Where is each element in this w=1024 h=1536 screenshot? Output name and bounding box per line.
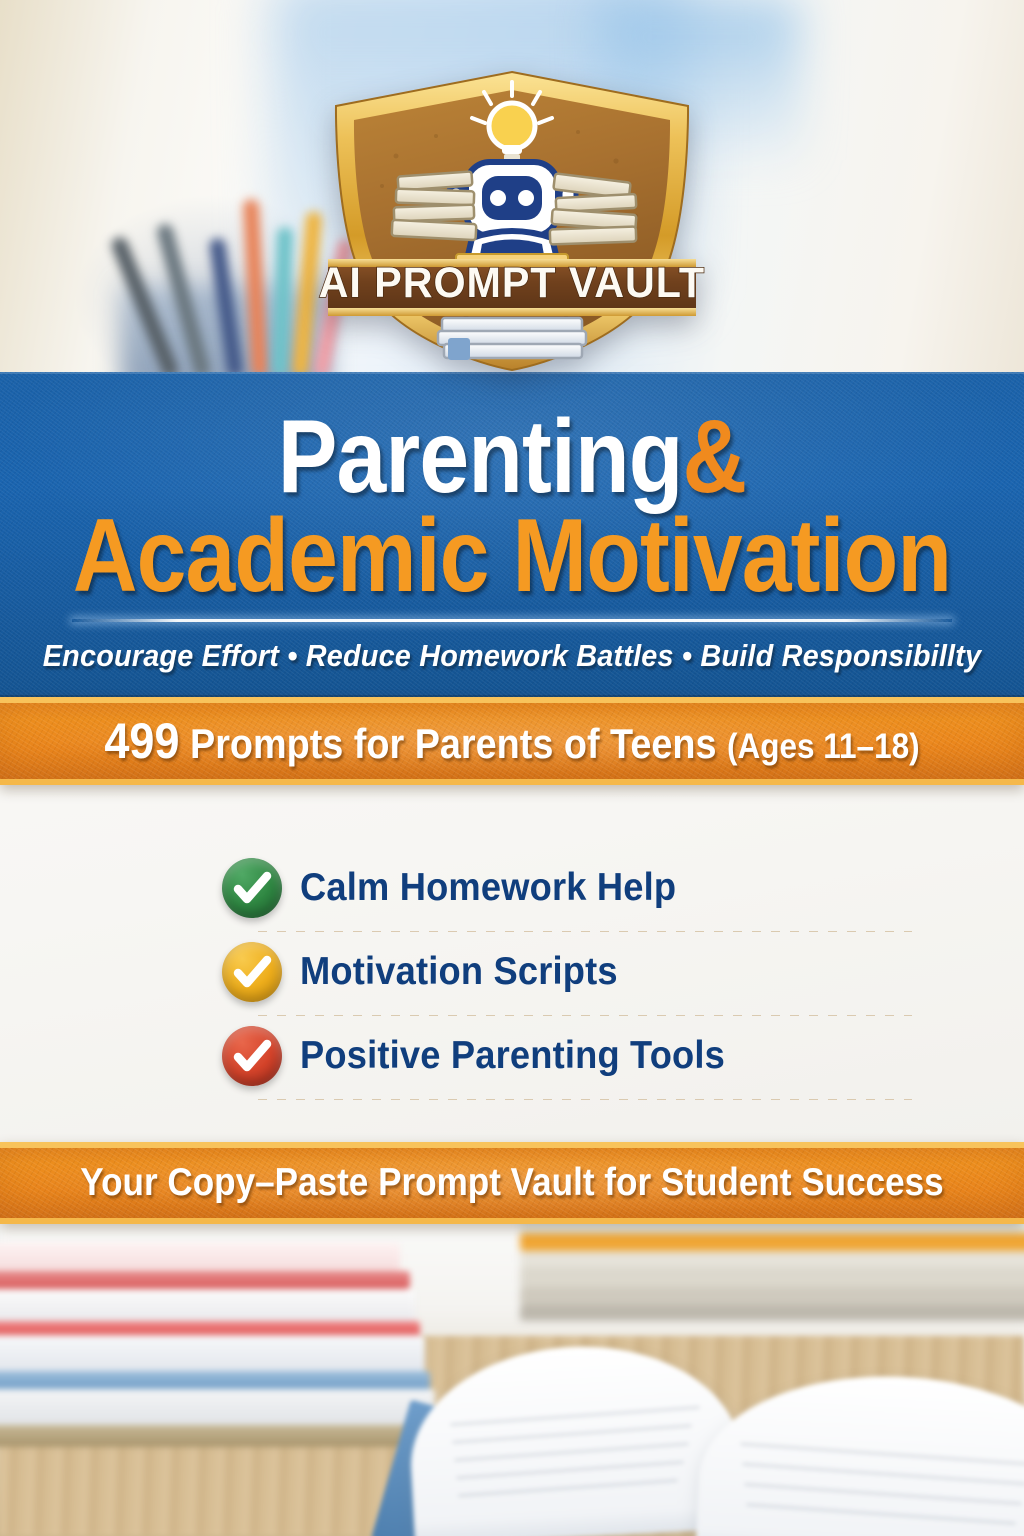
open-book-icon bbox=[400, 1325, 1024, 1536]
check-circle-icon bbox=[222, 942, 282, 1002]
list-item-label: Calm Homework Help bbox=[300, 866, 676, 910]
footer-banner-text: Your Copy–Paste Prompt Vault for Student… bbox=[51, 1148, 973, 1218]
list-item: Positive Parenting Tools bbox=[222, 1014, 822, 1098]
ai-prompt-vault-logo: AI PROMPT VAULT bbox=[316, 66, 708, 376]
title-block: Parenting& Academic Motivation bbox=[0, 408, 1024, 608]
age-range-label: (Ages 11–18) bbox=[727, 727, 920, 766]
bottom-background-photo bbox=[0, 1205, 1024, 1536]
book-stack-icon bbox=[0, 1243, 410, 1448]
list-item: Calm Homework Help bbox=[222, 846, 822, 930]
tagline: Encourage Effort • Reduce Homework Battl… bbox=[36, 638, 988, 674]
prompt-count-label: Prompts for Parents of Teens bbox=[179, 720, 727, 767]
book-stack-left-icon bbox=[392, 171, 477, 240]
bookmark-icon bbox=[448, 338, 470, 360]
title-divider-rule bbox=[72, 619, 952, 622]
paper-stack-right-icon bbox=[550, 173, 637, 244]
title-line-2: Academic Motivation bbox=[72, 504, 953, 608]
logo-badge-text: AI PROMPT VAULT bbox=[319, 258, 705, 306]
book-cover: AI PROMPT VAULT Parenting& Academic Moti… bbox=[0, 0, 1024, 1536]
check-circle-icon bbox=[222, 858, 282, 918]
prompt-count-text: 499 Prompts for Parents of Teens (Ages 1… bbox=[51, 703, 973, 785]
check-circle-icon bbox=[222, 1026, 282, 1086]
list-item: Motivation Scripts bbox=[222, 930, 822, 1014]
title-band: Parenting& Academic Motivation Encourage… bbox=[0, 372, 1024, 697]
title-line-1: Parenting& bbox=[72, 408, 953, 508]
feature-list: Calm Homework Help Motivation Scripts Po… bbox=[222, 846, 822, 1098]
list-divider bbox=[258, 1099, 912, 1100]
list-item-label: Motivation Scripts bbox=[300, 950, 618, 994]
prompt-count-banner: 499 Prompts for Parents of Teens (Ages 1… bbox=[0, 697, 1024, 785]
footer-banner: Your Copy–Paste Prompt Vault for Student… bbox=[0, 1142, 1024, 1224]
list-item-label: Positive Parenting Tools bbox=[300, 1034, 725, 1078]
prompt-count-number: 499 bbox=[104, 713, 179, 769]
